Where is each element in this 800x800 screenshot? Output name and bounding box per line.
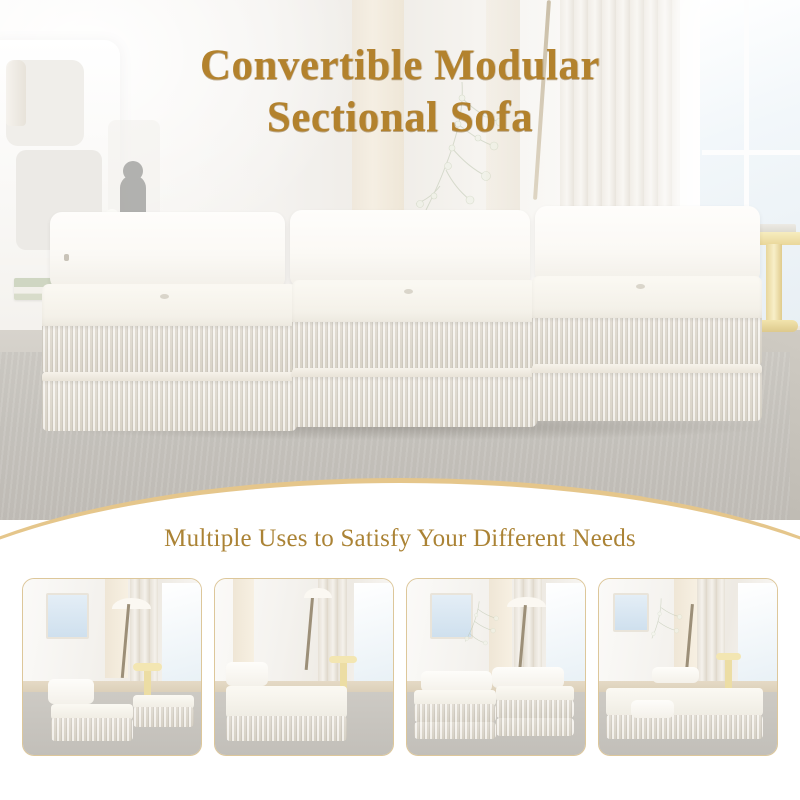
thumb-sofa-skirt — [51, 718, 133, 741]
seat-tuft — [160, 294, 169, 299]
thumb-blossom-branch-icon — [453, 593, 499, 653]
sofa-pleated-skirt-upper-2 — [292, 322, 537, 370]
seat-tuft — [404, 289, 413, 294]
thumb-bed-surface — [606, 688, 763, 716]
sofa-backrest-module-1 — [50, 212, 285, 290]
thumb-sofa-backrest-left — [421, 671, 492, 692]
thumb-armchair-ottoman[interactable]: Single seat with ottoman configuration — [22, 578, 202, 756]
title-line-1: Convertible Modular — [0, 40, 800, 92]
sofa-pleated-skirt-lower-2 — [292, 377, 537, 427]
sofa-seat-module-2 — [292, 280, 537, 326]
sectional-sofa — [42, 200, 762, 430]
thumb-window — [738, 583, 777, 682]
poster-subtitle: Multiple Uses to Satisfy Your Different … — [0, 525, 800, 553]
thumb-flat-bed[interactable]: Folded flat bed configuration — [598, 578, 778, 756]
thumb-side-table-top — [329, 656, 357, 663]
sofa-seat-module-1 — [42, 284, 297, 330]
window-frame-horizontal — [702, 150, 800, 155]
thumb-sofa-skirt-right — [496, 700, 574, 718]
title-line-2: Sectional Sofa — [0, 92, 800, 144]
sofa-backrest-module-3 — [535, 206, 760, 284]
thumb-blossom-branch-icon — [638, 590, 684, 650]
thumb-sofa-backrest-right — [492, 667, 563, 688]
sofa-pleated-skirt-lower-3 — [532, 373, 762, 421]
thumb-chaise-skirt — [226, 716, 347, 741]
thumb-window — [162, 583, 201, 682]
thumb-side-table-stem — [144, 671, 151, 696]
thumb-bolster-back — [652, 667, 698, 683]
sofa-pleated-skirt-lower-1 — [42, 381, 297, 431]
poster-title: Convertible Modular Sectional Sofa — [0, 40, 800, 144]
sofa-backrest-module-2 — [290, 210, 530, 288]
bottom-whitespace — [0, 758, 800, 800]
thumb-two-seat-sofa[interactable]: Two seat sofa configuration — [406, 578, 586, 756]
thumb-sofa-base-left — [414, 722, 496, 740]
backrest-button-icon — [64, 254, 69, 261]
seat-tuft — [636, 284, 645, 289]
thumb-bolster-front — [631, 700, 674, 718]
thumb-wall-art — [46, 593, 89, 639]
sofa-pleated-skirt-upper-3 — [532, 318, 762, 366]
thumb-sofa-skirt-left — [414, 704, 496, 722]
thumb-sofa-backrest — [48, 679, 94, 704]
thumb-chaise-seat — [226, 686, 347, 718]
sofa-pleated-skirt-upper-1 — [42, 326, 297, 374]
thumb-curtain — [697, 579, 725, 681]
thumb-bed-skirt — [606, 715, 763, 740]
thumb-ottoman-skirt — [133, 707, 194, 726]
product-poster: Convertible Modular Sectional Sofa Multi… — [0, 0, 800, 800]
thumb-sofa-backrest — [226, 662, 269, 687]
configuration-thumbnail-row: Single seat with ottoman configuration E… — [0, 578, 800, 758]
sofa-seat-module-3 — [532, 276, 762, 322]
thumb-chaise-lounger[interactable]: Extended chaise lounger configuration — [214, 578, 394, 756]
thumb-side-table-top — [716, 653, 741, 660]
thumb-side-table-top — [133, 663, 161, 670]
side-table-stem — [766, 244, 782, 326]
thumb-side-table-stem — [725, 660, 732, 692]
thumb-sofa-base-right — [496, 718, 574, 736]
thumb-window — [354, 583, 393, 682]
